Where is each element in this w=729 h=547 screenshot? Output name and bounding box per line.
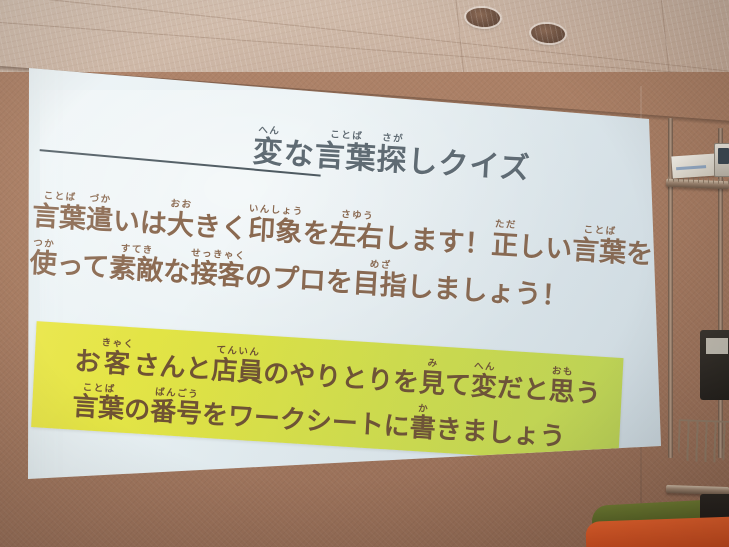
ceiling-tile-seam: [0, 0, 729, 74]
base-text: 探: [376, 145, 409, 177]
text-segment: しクイズ: [407, 135, 532, 184]
base-text: のプロを: [244, 263, 353, 297]
ruby-segment: へん変: [252, 125, 285, 168]
ceiling-downlight-icon: [530, 23, 565, 44]
base-text: な: [283, 139, 316, 171]
base-text: いは: [112, 207, 167, 237]
orange-chair-back: [585, 516, 729, 547]
room-scene: へん変 なことば言葉さが探 しクイズ ことば言葉づか遣 いはおお大 きくいんしょ…: [0, 0, 729, 547]
text-segment: な: [283, 127, 316, 170]
text-segment: う: [574, 368, 602, 407]
base-text: を: [302, 219, 330, 248]
slide-highlight-text: おきゃく客 さんとてんいん店員 のやりとりをみ見 てへん変 だとおも思 う こと…: [71, 337, 615, 462]
ruby-segment: へん変: [470, 362, 498, 401]
ruby-segment: づか遣: [85, 194, 114, 234]
text-segment: のやりとりを: [263, 349, 421, 396]
ruby-segment: めざ目指: [352, 258, 408, 300]
text-segment: を: [625, 228, 654, 268]
shelf-wire-rack: [677, 419, 729, 463]
base-text: 左右: [329, 221, 384, 251]
base-text: 言葉: [72, 394, 125, 423]
furigana: み: [427, 359, 438, 369]
base-text: お: [74, 348, 101, 376]
text-segment: のプロを: [244, 252, 354, 297]
base-text: 思: [548, 378, 575, 406]
ruby-segment: ばんごう番号: [149, 387, 203, 428]
base-text: の: [123, 397, 150, 425]
base-text: 使: [29, 250, 57, 279]
text-segment: しい: [518, 221, 574, 263]
slide-content: へん変 なことば言葉さが探 しクイズ ことば言葉づか遣 いはおお大 きくいんしょ…: [5, 66, 655, 505]
base-text: 接客: [190, 260, 245, 290]
base-text: 変: [252, 137, 285, 169]
text-segment: きく: [193, 201, 249, 243]
ceiling-downlight-icon: [465, 7, 500, 28]
base-text: 言葉: [571, 236, 626, 266]
slide-title: へん変 なことば言葉さが探 しクイズ: [221, 123, 563, 186]
shelf-item-device: [714, 143, 729, 177]
ruby-segment: すてき素敵: [108, 243, 164, 285]
ruby-segment: ことば言葉: [571, 225, 627, 267]
ruby-segment: きゃく客: [100, 338, 135, 378]
ruby-segment: ただ正: [491, 220, 520, 260]
text-segment: を: [302, 208, 331, 248]
base-text: 大: [166, 211, 194, 240]
text-segment: の: [123, 385, 151, 424]
base-text: だと: [496, 375, 549, 404]
base-text: 見: [418, 370, 445, 398]
slide-body: ことば言葉づか遣 いはおお大 きくいんしょう印象 をさゆう左右 します！ただ正 …: [29, 191, 649, 325]
text-segment: しましょう！: [406, 262, 570, 311]
base-text: しクイズ: [407, 147, 531, 185]
text-segment: って: [56, 240, 111, 282]
ruby-segment: つか使: [29, 238, 58, 278]
text-segment: な: [162, 247, 191, 287]
text-segment: だと: [496, 363, 550, 404]
ruby-segment: おお大: [166, 199, 195, 239]
base-text: をワークシートに: [201, 402, 410, 441]
base-text: 目指: [352, 270, 407, 300]
slide-title-text: へん変 なことば言葉さが探 しクイズ: [221, 123, 563, 186]
ruby-segment: てんいん店員: [211, 345, 265, 386]
base-text: 変: [470, 373, 497, 401]
text-segment: をワークシートに: [201, 390, 411, 441]
shelf-item-papers: [671, 153, 716, 178]
base-text: きましょう: [435, 416, 566, 450]
base-text: 素敵: [108, 255, 163, 285]
text-segment: て: [444, 360, 472, 399]
base-text: を: [625, 240, 653, 269]
text-segment: いは: [112, 196, 168, 238]
base-text: な: [162, 258, 190, 287]
base-text: う: [574, 380, 601, 408]
text-segment: きましょう: [435, 405, 567, 451]
ruby-segment: さが探: [376, 133, 409, 176]
base-text: しましょう！: [406, 273, 569, 310]
ruby-segment: せっきゃく接客: [189, 248, 246, 290]
base-text: 書: [409, 415, 436, 443]
ruby-segment: か書: [409, 403, 437, 442]
base-text: のやりとりを: [263, 360, 420, 396]
ruby-segment: さゆう左右: [329, 209, 385, 251]
text-segment: さんと: [133, 340, 213, 382]
base-text: 遣: [85, 206, 113, 235]
ceiling-tile-seam: [0, 22, 729, 79]
ruby-segment: み見: [418, 358, 446, 397]
base-text: 印象: [248, 216, 303, 246]
ruby-segment: いんしょう印象: [247, 204, 304, 246]
slide-highlight-box: おきゃく客 さんとてんいん店員 のやりとりをみ見 てへん変 だとおも思 う こと…: [31, 321, 623, 464]
ruby-segment: おも思: [548, 366, 576, 405]
base-text: 番号: [149, 398, 202, 427]
base-text: 言葉: [314, 141, 377, 175]
base-text: 正: [491, 231, 519, 260]
base-text: って: [56, 251, 110, 281]
base-text: 客: [103, 350, 130, 378]
base-text: 言葉: [31, 202, 86, 232]
ruby-segment: ことば言葉: [72, 382, 126, 423]
base-text: きく: [193, 212, 248, 242]
shelf-item-box: [700, 330, 729, 400]
base-text: 店員: [211, 357, 264, 386]
ruby-segment: ことば言葉: [31, 191, 87, 233]
base-text: て: [444, 371, 471, 399]
ruby-segment: ことば言葉: [314, 129, 378, 174]
base-text: します！: [383, 224, 492, 258]
text-segment: します！: [383, 213, 493, 258]
base-text: さんと: [133, 352, 212, 383]
shelf-post: [718, 128, 723, 458]
text-segment: お: [74, 337, 102, 376]
base-text: しい: [518, 233, 573, 263]
